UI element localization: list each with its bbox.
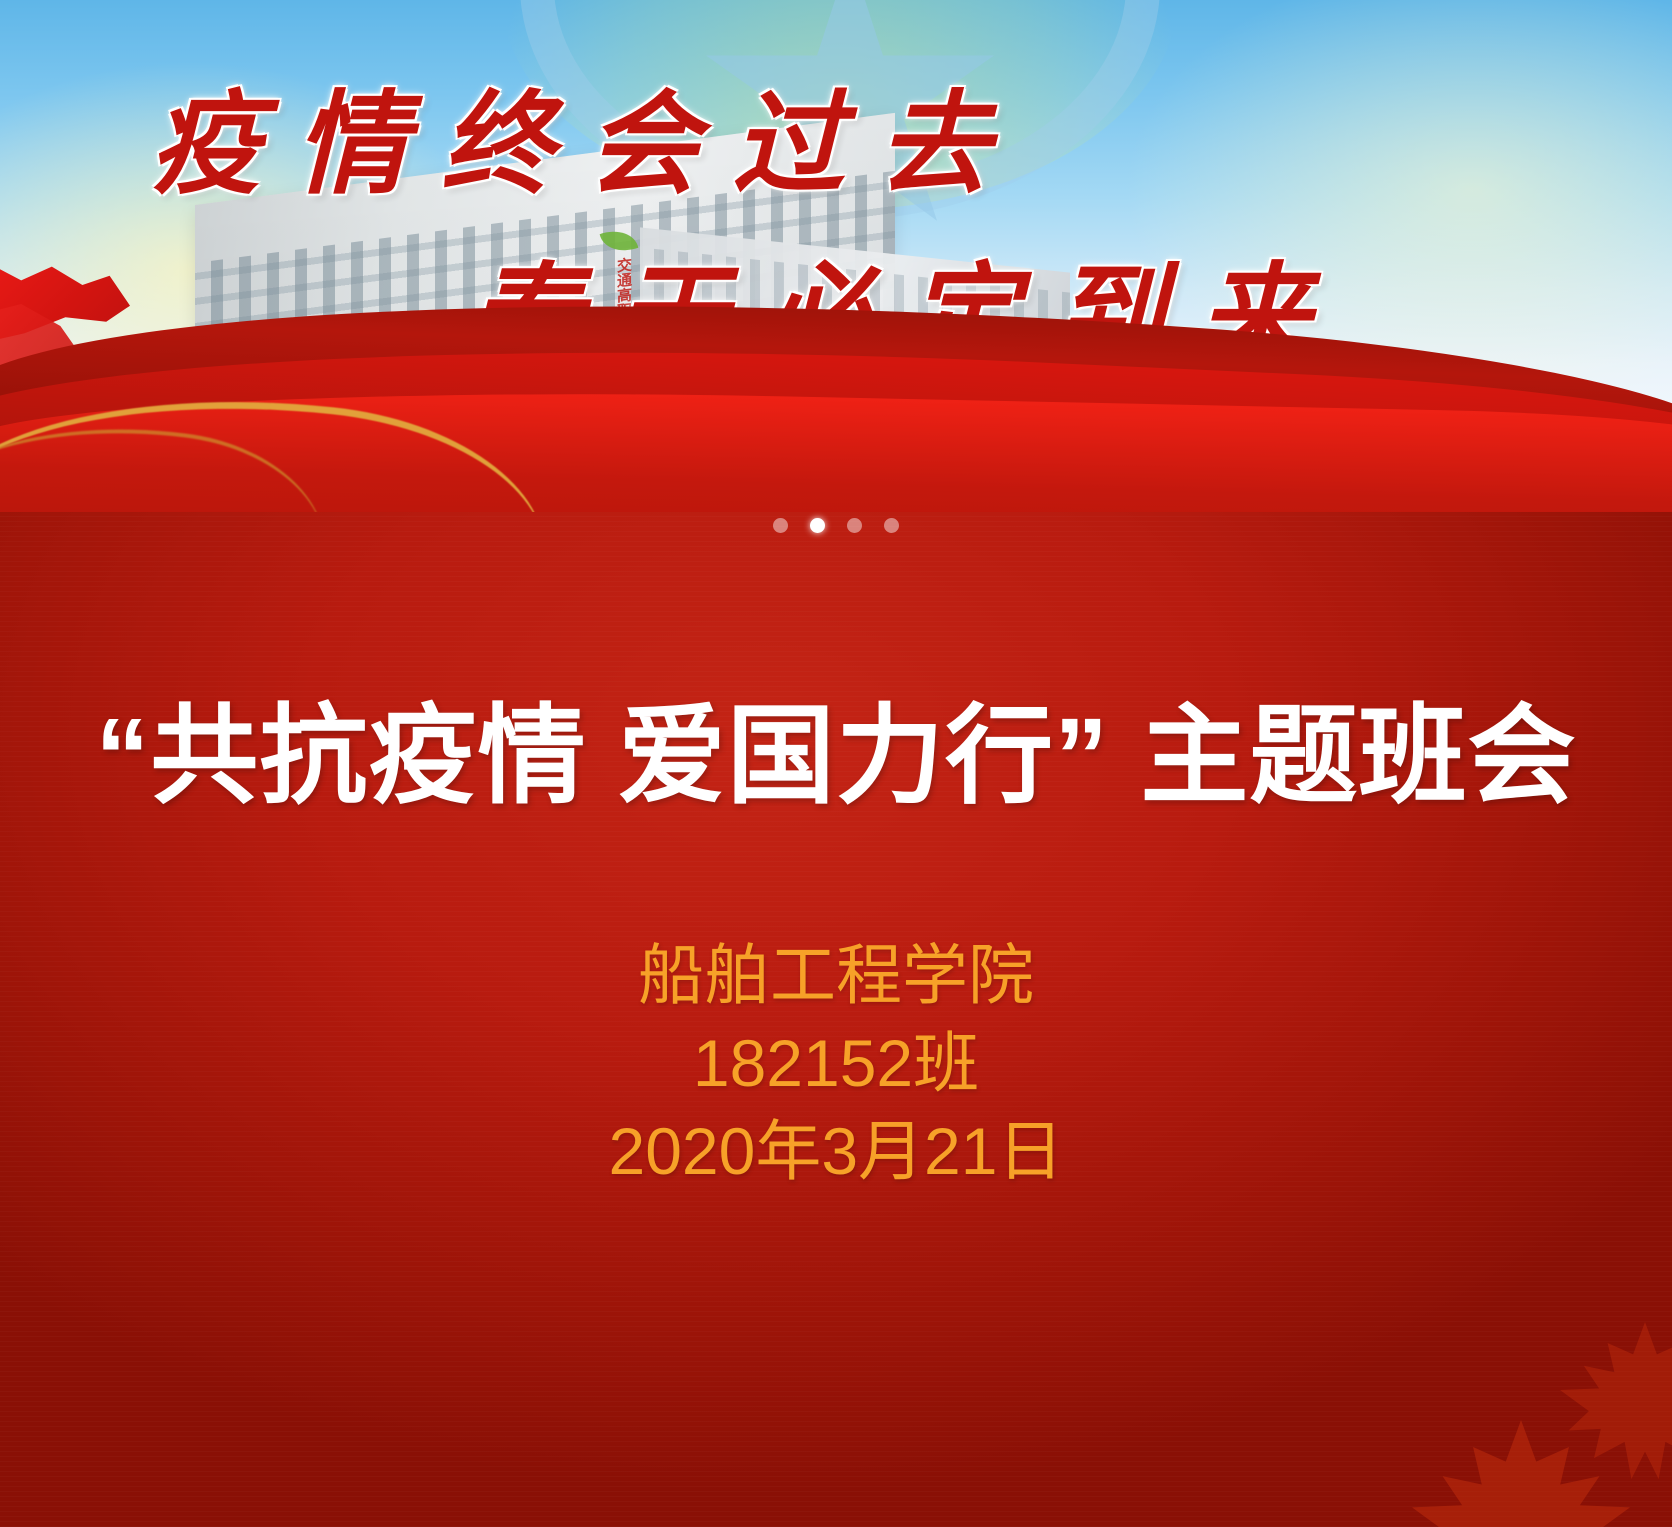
red-silk-ribbon [0,280,1672,520]
maple-leaf-icon [1412,1420,1630,1527]
subtitle-line-department: 船舶工程学院 [0,932,1672,1020]
page-title: “共抗疫情 爱国力行” 主题班会 [0,690,1672,822]
presentation-slide: 交通高职 疫情终会过去 春天必定到来 [0,0,1672,1527]
maple-leaf-icon [1560,1322,1672,1484]
carousel-dot-4[interactable] [884,518,899,533]
carousel-dot-2[interactable] [810,518,825,533]
banner-image[interactable]: 交通高职 疫情终会过去 春天必定到来 [0,0,1672,520]
subtitle-block: 船舶工程学院 182152班 2020年3月21日 [0,932,1672,1195]
carousel-dot-1[interactable] [773,518,788,533]
carousel-dots[interactable] [0,518,1672,533]
subtitle-line-class: 182152班 [0,1020,1672,1108]
carousel-dot-3[interactable] [847,518,862,533]
subtitle-line-date: 2020年3月21日 [0,1108,1672,1196]
